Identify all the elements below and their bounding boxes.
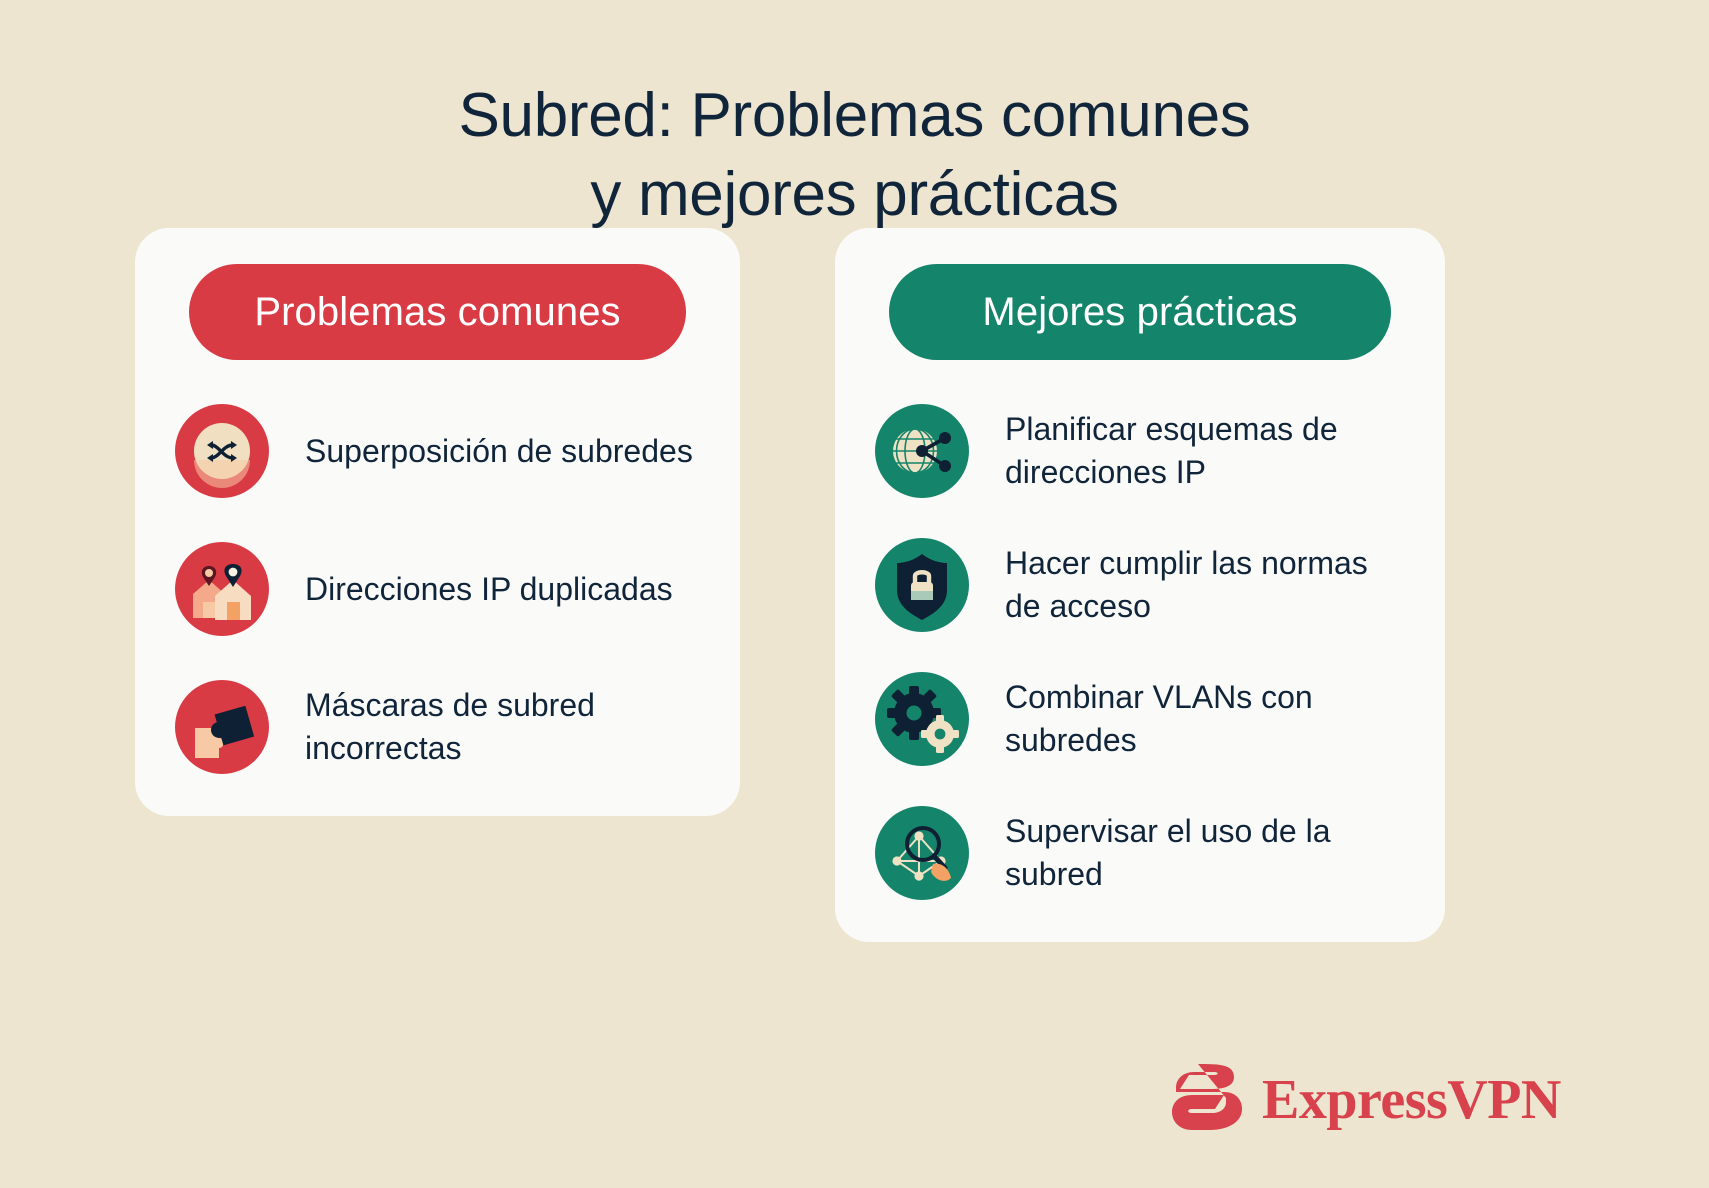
page-title-line-1: Subred: Problemas comunes [160,76,1549,155]
list-item: Planificar esquemas de direcciones IP [875,404,1405,498]
common-problems-list: Superposición de subredes [175,404,700,774]
best-practices-header-label: Mejores prácticas [982,290,1297,335]
list-item-label: Superposición de subredes [305,430,693,473]
expressvpn-e-mark-icon [1162,1062,1246,1137]
common-problems-header: Problemas comunes [189,264,686,360]
overlapping-arrows-icon [175,404,269,498]
expressvpn-wordmark: ExpressVPN [1262,1072,1561,1128]
infographic-page: Subred: Problemas comunes y mejores prác… [0,0,1709,1188]
cards-container: Problemas comunes [135,228,1580,942]
gears-icon [875,672,969,766]
list-item-label: Máscaras de subred incorrectas [305,684,700,769]
list-item-label: Direcciones IP duplicadas [305,568,673,611]
list-item: Supervisar el uso de la subred [875,806,1405,900]
magnifier-network-icon [875,806,969,900]
globe-network-icon [875,404,969,498]
expressvpn-logo: ExpressVPN [1162,1062,1561,1137]
list-item: Superposición de subredes [175,404,700,498]
common-problems-header-label: Problemas comunes [254,290,620,335]
page-title: Subred: Problemas comunes y mejores prác… [0,76,1709,235]
list-item: Combinar VLANs con subredes [875,672,1405,766]
common-problems-card: Problemas comunes [135,228,740,816]
best-practices-list: Planificar esquemas de direcciones IP Ha… [875,404,1405,900]
puzzle-pieces-icon [175,680,269,774]
shield-lock-icon [875,538,969,632]
best-practices-card: Mejores prácticas [835,228,1445,942]
list-item-label: Supervisar el uso de la subred [1005,810,1405,895]
duplicate-house-pins-icon [175,542,269,636]
list-item-label: Hacer cumplir las normas de acceso [1005,542,1405,627]
best-practices-header: Mejores prácticas [889,264,1391,360]
list-item-label: Planificar esquemas de direcciones IP [1005,408,1405,493]
list-item-label: Combinar VLANs con subredes [1005,676,1405,761]
list-item: Direcciones IP duplicadas [175,542,700,636]
list-item: Hacer cumplir las normas de acceso [875,538,1405,632]
page-title-line-2: y mejores prácticas [160,155,1549,234]
list-item: Máscaras de subred incorrectas [175,680,700,774]
